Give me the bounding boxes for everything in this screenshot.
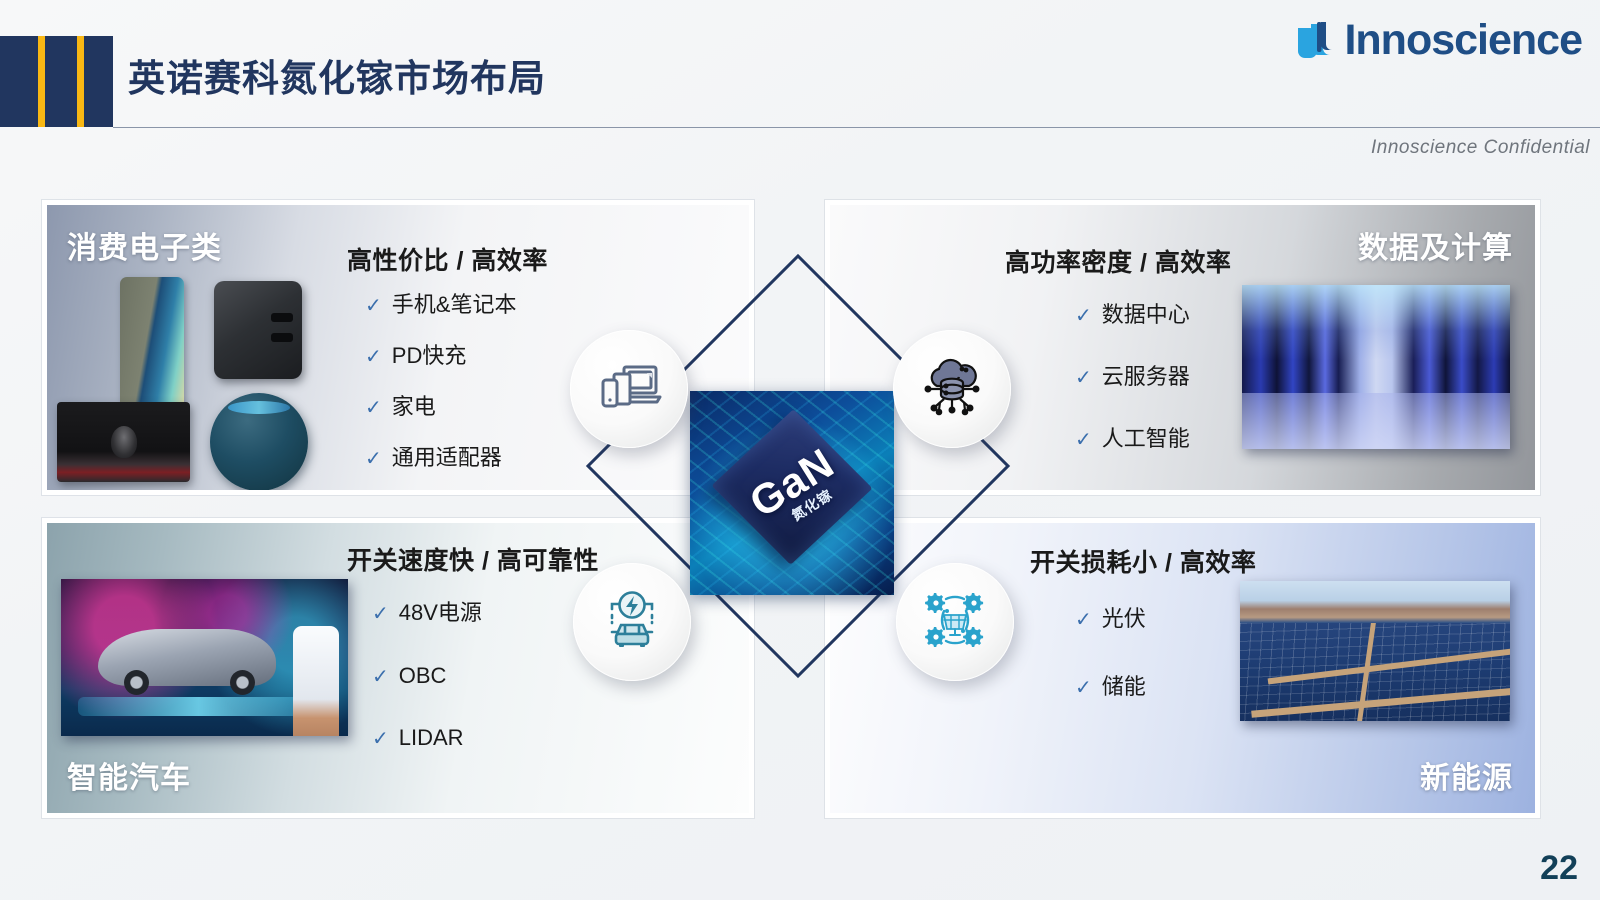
list-item-label: 储能 [1102,669,1146,701]
list-item: ✓ 通用适配器 [365,440,516,472]
header-gold-stripe-2 [77,36,84,127]
quadrant-label-energy: 新能源 [1420,753,1513,797]
page-number: 22 [1540,849,1578,888]
gan-charger-photo [214,281,302,379]
speaker-led-glow [228,401,291,414]
check-icon: ✓ [1075,430,1092,450]
quadrant-label-auto: 智能汽车 [67,753,191,797]
innoscience-logo-text: Innoscience [1344,19,1582,62]
list-item: ✓ 48V电源 [372,595,482,627]
car-wheel-rear [230,670,255,695]
list-item: ✓ LIDAR [372,725,482,751]
check-icon: ✓ [372,729,389,749]
list-item-label: 手机&笔记本 [392,287,517,319]
laptop-screen-logo [111,426,137,458]
bullet-list-consumer: ✓ 手机&笔记本 ✓ PD快充 ✓ 家电 ✓ 通用适配器 [365,287,516,472]
gaming-laptop-photo [57,402,190,482]
charger-port-1 [271,313,293,322]
cloud-database-icon [917,352,987,427]
check-icon: ✓ [372,604,389,624]
quadrant-heading-auto: 开关速度快 / 高可靠性 [347,541,599,577]
smartphone-photo [120,277,184,417]
list-item: ✓ PD快充 [365,338,516,370]
list-item: ✓ OBC [372,663,482,689]
check-icon: ✓ [365,398,382,418]
list-item-label: 数据中心 [1102,297,1190,329]
check-icon: ✓ [365,449,382,469]
check-icon: ✓ [1075,306,1092,326]
page-title: 英诺赛科氮化镓市场布局 [128,48,546,102]
list-item-label: OBC [399,663,447,689]
node-smart-automotive[interactable] [573,563,691,681]
list-item-label: 云服务器 [1102,359,1190,391]
smart-speaker-photo [210,393,308,491]
node-consumer-electronics[interactable] [570,330,688,448]
list-item: ✓ 云服务器 [1075,359,1190,391]
innoscience-logo: Innoscience [1292,18,1582,62]
list-item-label: PD快充 [392,338,467,370]
bullet-list-energy: ✓ 光伏 ✓ 储能 [1075,601,1146,701]
quadrant-label-consumer: 消费电子类 [67,223,222,267]
check-icon: ✓ [1075,368,1092,388]
list-item: ✓ 人工智能 [1075,421,1190,453]
list-item-label: 48V电源 [399,595,482,627]
header-divider-rule [113,127,1600,128]
confidentiality-notice: Innoscience Confidential [1371,137,1590,159]
list-item: ✓ 光伏 [1075,601,1146,633]
quadrant-label-data: 数据及计算 [1358,223,1513,267]
list-item-label: 人工智能 [1102,421,1190,453]
datacenter-photo [1242,285,1510,449]
innoscience-logo-mark-icon [1292,18,1336,62]
node-data-computing[interactable] [893,330,1011,448]
check-icon: ✓ [365,347,382,367]
quadrant-heading-data: 高功率密度 / 高效率 [1005,243,1231,279]
solar-farm-photo [1240,581,1510,721]
check-icon: ✓ [365,296,382,316]
quadrant-heading-energy: 开关损耗小 / 高效率 [1030,543,1256,579]
header-accent-block [0,36,113,127]
bullet-list-data: ✓ 数据中心 ✓ 云服务器 ✓ 人工智能 [1075,297,1190,453]
list-item: ✓ 储能 [1075,669,1146,701]
quadrant-heading-consumer: 高性价比 / 高效率 [347,241,548,277]
slide-canvas: 英诺赛科氮化镓市场布局 Innoscience Confidential Inn… [0,0,1600,900]
car-wheel-front [124,670,149,695]
datacenter-floor [1242,393,1510,449]
list-item-label: 光伏 [1102,601,1146,633]
list-item: ✓ 家电 [365,389,516,421]
check-icon: ✓ [372,667,389,687]
check-icon: ✓ [1075,678,1092,698]
smart-car-photo [61,579,348,736]
list-item-label: LIDAR [399,725,464,751]
list-item: ✓ 数据中心 [1075,297,1190,329]
check-icon: ✓ [1075,610,1092,630]
list-item-label: 通用适配器 [392,440,502,472]
list-item: ✓ 手机&笔记本 [365,287,516,319]
bullet-list-auto: ✓ 48V电源 ✓ OBC ✓ LIDAR [372,595,482,751]
list-item-label: 家电 [392,389,436,421]
ev-charging-icon [597,585,667,660]
node-new-energy[interactable] [896,563,1014,681]
gan-chip-photo: GaN 氮化镓 [690,391,894,595]
gan-chip-die [711,409,872,565]
header-gold-stripe-1 [38,36,45,127]
car-glow-pad [78,697,319,716]
hand-with-phone [293,626,339,736]
devices-icon [594,352,664,427]
charger-port-2 [271,333,293,342]
solar-gears-icon [920,585,990,660]
